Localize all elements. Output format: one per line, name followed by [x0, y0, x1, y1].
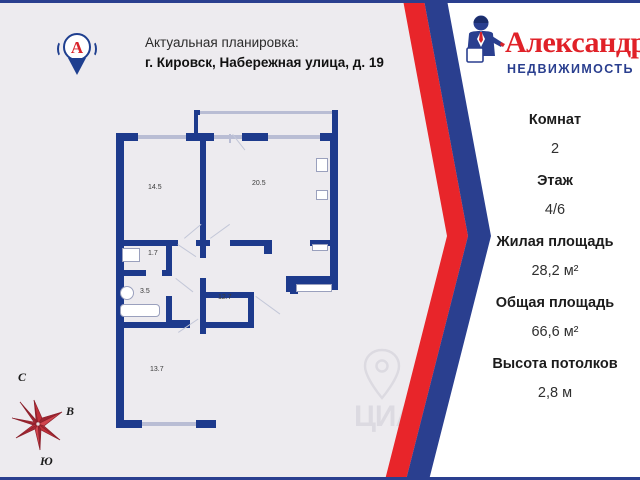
door-swing-room145 [184, 224, 201, 239]
watermark-pin-icon [362, 348, 402, 400]
brand-subtitle: НЕДВИЖИМОСТЬ [507, 62, 634, 76]
wall-hall-left-b [200, 278, 206, 326]
wall-hall-bottom [206, 322, 254, 328]
plan-caption: Актуальная планировка: [145, 33, 395, 53]
pin-pointer [68, 58, 86, 75]
map-pin-icon: A [60, 33, 94, 79]
brand-logo: Александр НЕДВИЖИМОСТЬ [455, 14, 640, 86]
bathtub-fixture [120, 304, 160, 317]
wall-left-upper [116, 133, 124, 248]
room-label-1-7: 1.7 [148, 250, 158, 257]
compass-north: С [18, 370, 26, 385]
room-label-3-5: 3.5 [140, 288, 150, 295]
window-left [138, 135, 186, 139]
wall-bottom-b [196, 420, 216, 428]
wc-fixture [122, 248, 140, 262]
spec-value-ceiling: 2,8 м [470, 385, 640, 401]
wall-bath-bottom2 [116, 322, 190, 328]
radiator-fixture-a [316, 158, 328, 172]
screenshot-root: ЦИАН [0, 0, 640, 480]
brand-name: Александр [505, 26, 640, 60]
spec-value-living-area: 28,2 м² [470, 263, 640, 279]
wall-wc-right [166, 246, 172, 274]
wall-top-c [242, 133, 268, 141]
wall-hall-left-a [200, 246, 206, 258]
pin-letter: A [71, 39, 83, 56]
spec-label-living-area: Жилая площадь [470, 234, 640, 250]
door-swing-entry [255, 296, 280, 314]
door-swing-room205 [210, 224, 230, 239]
realtor-person-icon [459, 14, 505, 72]
spec-value-floor: 4/6 [470, 202, 640, 218]
door-swing-bath [175, 278, 193, 292]
address-block: Актуальная планировка: г. Кировск, Набер… [145, 33, 395, 74]
window-mid-a [214, 135, 242, 139]
sink-fixture [120, 286, 134, 300]
property-specs: Комнат 2 Этаж 4/6 Жилая площадь 28,2 м² … [470, 112, 640, 401]
balcony-corner [194, 110, 200, 115]
floor-plan: 14.5 20.5 1.7 3.5 12.7 13.7 [100, 100, 360, 452]
room-label-20-5: 20.5 [252, 180, 266, 187]
wall-bottom-a [116, 420, 142, 428]
door-swing-wc [177, 244, 196, 257]
radiator-fixture-b [316, 190, 328, 200]
wall-mid-stub [264, 240, 272, 254]
window-bottom [142, 422, 196, 426]
wall-partition-top [200, 133, 206, 245]
balcony-door-jamb [229, 134, 231, 143]
room-label-14-5: 14.5 [148, 184, 162, 191]
frame-top-border [0, 0, 640, 3]
wall-wc-bottom [116, 270, 146, 276]
pin-circle: A [63, 33, 91, 61]
wall-left-lower [116, 320, 124, 428]
spec-label-total-area: Общая площадь [470, 295, 640, 311]
spec-label-ceiling: Высота потолков [470, 356, 640, 372]
spec-label-rooms: Комнат [470, 112, 640, 128]
compass-south: Ю [40, 454, 53, 469]
window-right [268, 135, 320, 139]
room-label-12-7: 12.7 [218, 294, 232, 301]
spec-value-rooms: 2 [470, 141, 640, 157]
balcony-rail [198, 111, 332, 114]
address-text: г. Кировск, Набережная улица, д. 19 [145, 53, 395, 73]
spec-value-total-area: 66,6 м² [470, 324, 640, 340]
spec-label-floor: Этаж [470, 173, 640, 189]
compass-star-icon [10, 396, 66, 452]
niche-wall-b [286, 276, 338, 282]
counter-fixture [312, 244, 328, 251]
compass-east: В [66, 404, 74, 419]
room-label-13-7: 13.7 [150, 366, 164, 373]
compass-rose: С В Ю З [0, 368, 100, 476]
wall-right-upper [330, 133, 338, 245]
niche-shelf [296, 284, 332, 292]
